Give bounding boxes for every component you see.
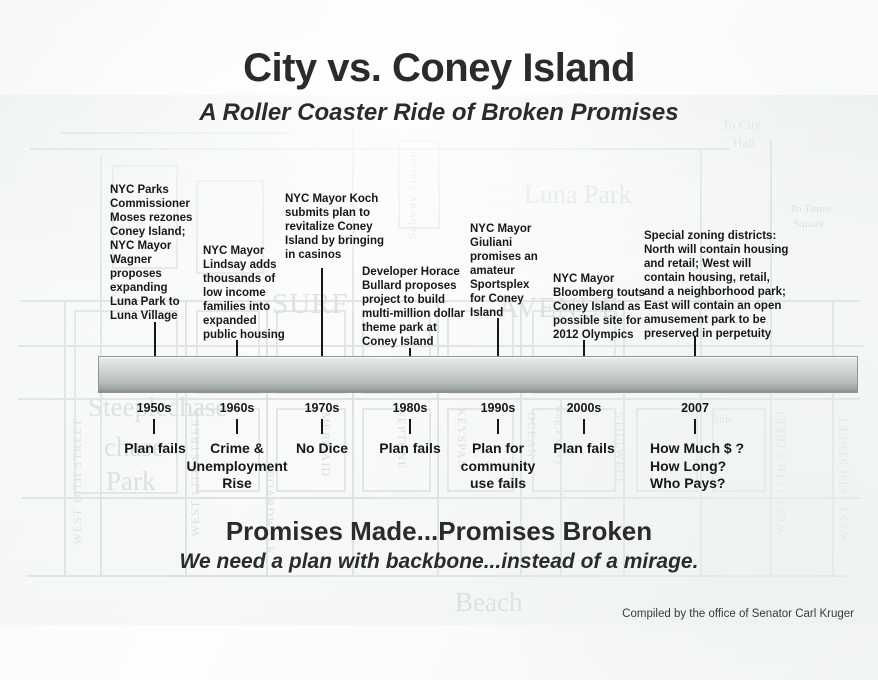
- timeline-period-1960s: 1960s: [197, 401, 277, 415]
- callout-bullard: Developer Horace Bullard proposes projec…: [362, 265, 478, 349]
- footer-slogan: Promises Made...Promises Broken: [0, 516, 878, 547]
- timeline-period-2000s: 2000s: [544, 401, 624, 415]
- map-street-line: [30, 148, 730, 150]
- timeline-period-1990s: 1990s: [458, 401, 538, 415]
- infographic-page: Luna Park Steeplechase chase Park SURF A…: [0, 0, 878, 680]
- map-label-subway-station: Subway Station: [405, 150, 420, 240]
- timeline-outcome-1980s: Plan fails: [360, 440, 460, 458]
- page-subtitle: A Roller Coaster Ride of Broken Promises: [0, 99, 878, 127]
- timeline-outcome-1970s: No Dice: [276, 440, 368, 458]
- timeline-outcome-2000s: Plan fails: [534, 440, 634, 458]
- callout-stem: [321, 268, 323, 368]
- callout-bloomberg: NYC Mayor Bloomberg touts Coney Island a…: [553, 272, 657, 342]
- map-street-line: [26, 575, 846, 577]
- map-label-park: Park: [106, 466, 156, 497]
- timeline-tick: [409, 419, 411, 434]
- timeline-tick: [153, 419, 155, 434]
- callout-koch: NYC Mayor Koch submits plan to revitaliz…: [285, 192, 395, 262]
- callout-giuliani: NYC Mayor Giuliani promises an amateur S…: [470, 222, 562, 320]
- map-label-to-city-hall-2: Hall: [733, 135, 755, 151]
- callout-zoning-2007: Special zoning districts: North will con…: [644, 229, 824, 341]
- callout-lindsay: NYC Mayor Lindsay adds thousands of low …: [203, 244, 298, 342]
- map-street-line: [60, 132, 290, 134]
- timeline-period-1950s: 1950s: [114, 401, 194, 415]
- map-street-line: [18, 398, 860, 400]
- map-label-luna-park: Luna Park: [524, 180, 632, 210]
- map-label-neptune: NEPTUNE: [394, 408, 409, 470]
- callout-moses-wagner: NYC Parks Commissioner Moses rezones Con…: [110, 183, 205, 323]
- timeline-period-1970s: 1970s: [282, 401, 362, 415]
- map-label-beach: Beach: [455, 587, 522, 618]
- footer-credit: Compiled by the office of Senator Carl K…: [622, 608, 854, 620]
- timeline-tick: [497, 419, 499, 434]
- timeline-tick: [694, 419, 696, 434]
- map-label-to-times-square: To Times: [790, 203, 831, 215]
- page-title: City vs. Coney Island: [0, 46, 878, 91]
- timeline-period-1980s: 1980s: [370, 401, 450, 415]
- timeline-tick: [321, 419, 323, 434]
- footer-tagline: We need a plan with backbone...instead o…: [0, 550, 878, 574]
- timeline-tick: [236, 419, 238, 434]
- timeline-bar: [98, 356, 858, 393]
- timeline-outcome-1990s: Plan for community use fails: [452, 440, 544, 493]
- timeline-period-2007: 2007: [655, 401, 735, 415]
- timeline-outcome-2007: How Much $ ? How Long? Who Pays?: [650, 440, 800, 493]
- map-street-line: [22, 497, 860, 499]
- timeline-tick: [583, 419, 585, 434]
- map-block: [398, 140, 440, 229]
